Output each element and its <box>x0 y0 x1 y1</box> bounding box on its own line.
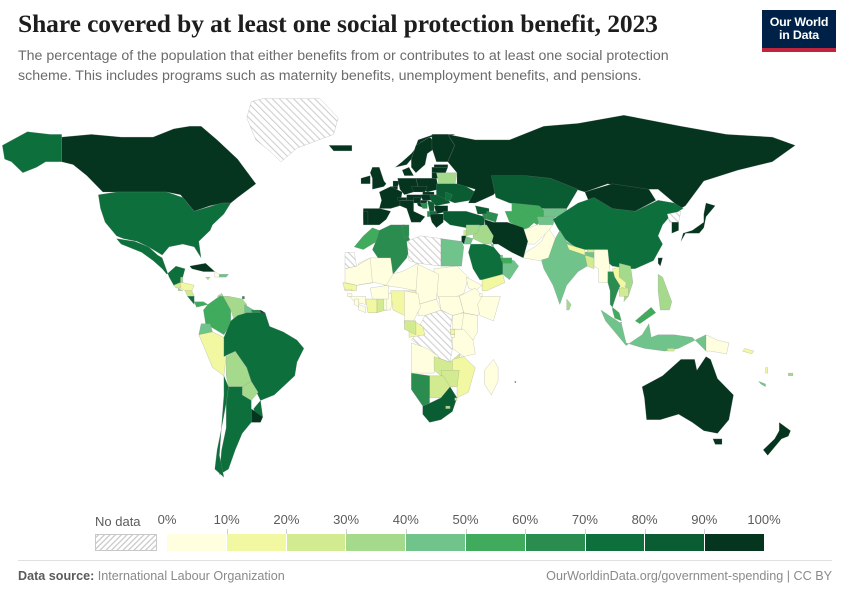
country-cze[interactable]: Czechia: 100% <box>411 187 427 193</box>
map-legend: No data 0%10%20%30%40%50%60%70%80%90%100… <box>0 506 850 556</box>
chart-footer: Data source: International Labour Organi… <box>0 566 850 592</box>
country-dji[interactable]: Djibouti: 9% <box>480 294 482 297</box>
world-choropleth-map[interactable]: Canada: 99%Greenland: No dataUnited Stat… <box>0 96 850 502</box>
country-kor[interactable]: South Korea: 95% <box>672 222 679 233</box>
country-btn[interactable]: Bhutan: 25% <box>587 250 594 253</box>
country-aus[interactable]: Australia: 100% <box>642 357 733 434</box>
country-vut[interactable]: Vanuatu: 15% <box>766 368 768 374</box>
legend-tick-6: 60% <box>512 512 538 527</box>
country-ncl[interactable]: New Caledonia: 48% <box>759 381 766 387</box>
country-khm[interactable]: Cambodia: 20% <box>619 288 628 296</box>
country-blz[interactable]: Belize: 35% <box>181 277 183 282</box>
country-sle[interactable]: Sierra Leone: 5% <box>354 299 359 307</box>
legend-bin-8[interactable] <box>645 534 705 551</box>
country-gnb[interactable]: Guinea-Bissau: 4% <box>347 294 352 297</box>
countries-layer: Canada: 99%Greenland: No dataUnited Stat… <box>2 99 795 478</box>
country-tls[interactable]: Timor-Leste: 22% <box>667 348 674 351</box>
country-png[interactable]: Papua New Guinea: 3% <box>706 335 729 354</box>
legend-bin-0[interactable] <box>167 534 227 551</box>
legend-bin-9[interactable] <box>705 534 764 551</box>
country-cri[interactable]: Costa Rica: 74% <box>187 296 194 304</box>
legend-tick-3: 30% <box>333 512 359 527</box>
country-nam[interactable]: Namibia: 62% <box>411 373 429 406</box>
country-svn[interactable]: Slovenia: 100% <box>414 198 421 204</box>
country-twn[interactable]: Taiwan: 95% <box>658 258 663 266</box>
country-mdg[interactable]: Madagascar: 8% <box>484 359 498 395</box>
country-esh[interactable]: Western Sahara: No data <box>345 252 357 268</box>
legend-tick-0: 0% <box>158 512 177 527</box>
legend-tick-2: 20% <box>273 512 299 527</box>
legend-bin-2[interactable] <box>287 534 347 551</box>
country-pan[interactable]: Panama: 58% <box>194 302 208 308</box>
country-per[interactable]: Peru: 18% <box>199 332 226 376</box>
country-hnd[interactable]: Honduras: 14% <box>181 283 195 291</box>
country-jam[interactable]: Jamaica: 38% <box>206 277 211 280</box>
world-map-svg[interactable]: Canada: 99%Greenland: No dataUnited Stat… <box>0 96 850 502</box>
country-grl[interactable]: Greenland: No data <box>247 99 338 162</box>
country-lka[interactable]: Sri Lanka: 37% <box>567 299 572 310</box>
country-slb[interactable]: Solomon Islands: 12% <box>743 348 754 354</box>
attribution-link[interactable]: OurWorldinData.org/government-spending |… <box>546 569 832 583</box>
country-sdn[interactable]: Sudan: 5% <box>434 266 468 299</box>
no-data-swatch[interactable] <box>95 534 157 551</box>
legend-tick-10: 100% <box>747 512 780 527</box>
legend-bin-1[interactable] <box>227 534 287 551</box>
country-bih[interactable]: Bosnia and Herzegovina: 65% <box>420 203 427 209</box>
country-isl[interactable]: Iceland: 100% <box>329 145 352 151</box>
chart-subtitle: The percentage of the population that ei… <box>18 47 724 86</box>
country-fji[interactable]: Fiji: 38% <box>788 373 793 376</box>
country-som[interactable]: Somalia: 2% <box>478 296 501 321</box>
country-grc[interactable]: Greece: 92% <box>430 214 444 228</box>
country-lbn[interactable]: Lebanon: 25% <box>464 230 466 236</box>
legend-color-bins[interactable] <box>167 534 764 551</box>
country-nic[interactable]: Nicaragua: 27% <box>185 291 194 297</box>
data-source: Data source: International Labour Organi… <box>18 569 285 583</box>
legend-bin-4[interactable] <box>406 534 466 551</box>
country-swz[interactable]: Eswatini: 22% <box>455 398 457 401</box>
country-prt[interactable]: Portugal: 93% <box>363 211 368 225</box>
country-brn[interactable]: Brunei: 55% <box>644 313 646 316</box>
country-mkd[interactable]: North Macedonia: 72% <box>430 211 437 214</box>
legend-bin-7[interactable] <box>586 534 646 551</box>
country-aus[interactable]: Australia: 100% <box>713 439 722 445</box>
legend-tick-7: 70% <box>572 512 598 527</box>
country-lby[interactable]: Libya: No data <box>407 236 441 266</box>
country-qat[interactable]: Qatar: 40% <box>500 255 502 258</box>
country-hti[interactable]: Haiti: 4% <box>215 272 220 278</box>
country-nzl[interactable]: New Zealand: 100% <box>763 422 790 455</box>
country-irl[interactable]: Ireland: 100% <box>361 176 370 184</box>
country-rwa[interactable]: Rwanda: 13% <box>450 329 455 335</box>
legend-tick-1: 10% <box>214 512 240 527</box>
country-tto[interactable]: Trinidad and Tobago: 62% <box>242 296 244 299</box>
country-est[interactable]: Estonia: 99% <box>434 165 448 168</box>
country-phl[interactable]: Philippines: 39% <box>658 274 672 310</box>
country-dnk[interactable]: Denmark: 100% <box>402 167 413 175</box>
owid-logo-line1: Our World <box>770 16 829 30</box>
legend-tick-4: 40% <box>393 512 419 527</box>
country-jpn[interactable]: Japan: 98% <box>681 203 715 241</box>
legend-ticks: 0%10%20%30%40%50%60%70%80%90%100% <box>167 512 764 532</box>
footer-divider <box>18 560 832 561</box>
country-che[interactable]: Switzerland: 100% <box>398 198 407 201</box>
country-mus[interactable]: Mauritius: 66% <box>515 381 516 382</box>
legend-tick-9: 90% <box>691 512 717 527</box>
country-svk[interactable]: Slovakia: 97% <box>423 192 434 195</box>
legend-bin-6[interactable] <box>526 534 586 551</box>
country-cub[interactable]: Cuba: 100% <box>190 263 215 271</box>
no-data-label: No data <box>95 514 141 529</box>
country-sgp[interactable]: Singapore: 82% <box>621 322 622 323</box>
country-lbr[interactable]: Liberia: 4% <box>359 305 366 313</box>
country-usa[interactable]: United States: 77% <box>2 132 61 173</box>
legend-tick-5: 50% <box>452 512 478 527</box>
legend-bin-3[interactable] <box>346 534 406 551</box>
country-civ[interactable]: Ivory Coast: 10% <box>366 299 377 313</box>
country-dom[interactable]: Dominican Republic: 44% <box>219 274 228 277</box>
page-title: Share covered by at least one social pro… <box>18 9 738 39</box>
country-lva[interactable]: Latvia: 96% <box>432 167 448 173</box>
country-kwt[interactable]: Kuwait: 45% <box>491 244 493 247</box>
country-gbr[interactable]: United Kingdom: 100% <box>370 167 386 189</box>
country-tjk[interactable]: Tajikistan: 42% <box>537 217 555 225</box>
legend-bin-5[interactable] <box>466 534 526 551</box>
country-bfa[interactable]: Burkina Faso: 6% <box>370 285 388 299</box>
legend-tick-8: 80% <box>632 512 658 527</box>
data-source-value: International Labour Organization <box>98 569 285 583</box>
country-cmr[interactable]: Cameroon: 9% <box>404 291 420 321</box>
data-source-label: Data source: <box>18 569 94 583</box>
country-egy[interactable]: Egypt: 43% <box>441 239 464 267</box>
country-gmb[interactable]: Gambia: 4% <box>345 289 352 290</box>
owid-logo-line2: in Data <box>779 29 819 43</box>
country-lso[interactable]: Lesotho: 31% <box>446 406 451 409</box>
owid-logo[interactable]: Our World in Data <box>762 10 836 52</box>
